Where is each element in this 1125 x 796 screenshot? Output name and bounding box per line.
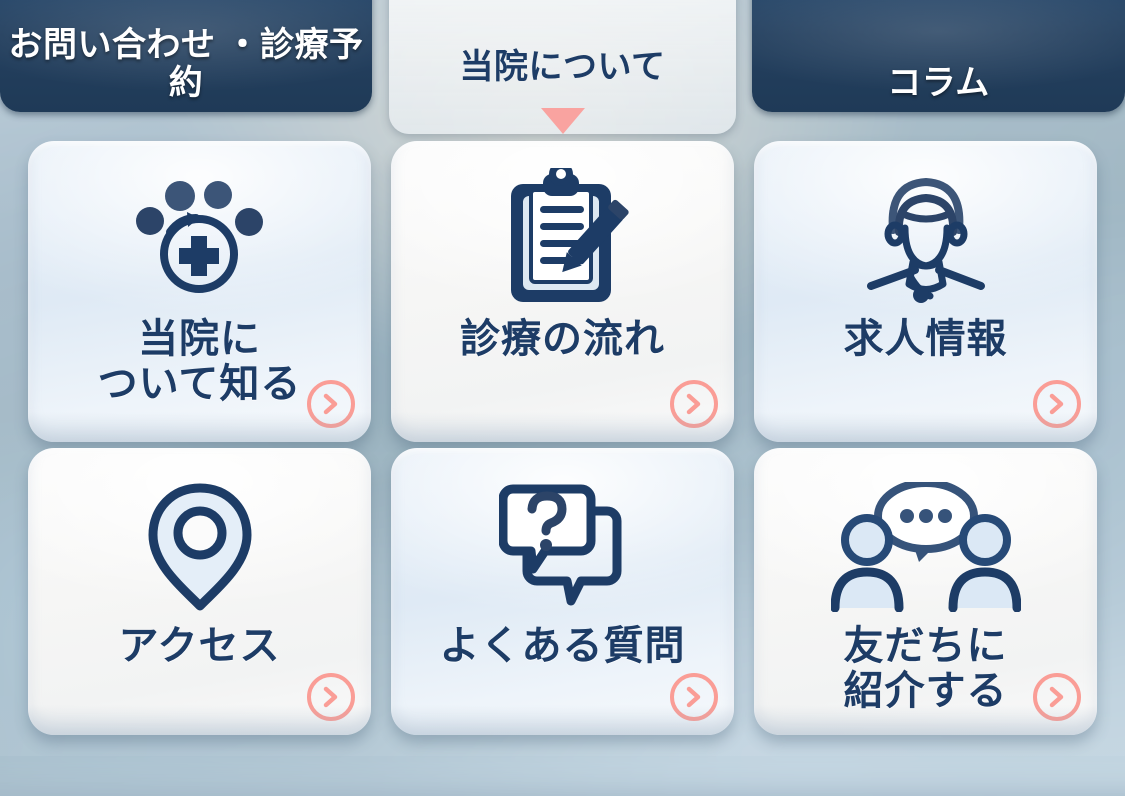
chevron-right-icon [684, 686, 704, 708]
chevron-right-icon [1047, 686, 1067, 708]
card-about-clinic[interactable]: 当院に ついて知る [28, 141, 371, 442]
tab-about-label: 当院について [460, 48, 666, 86]
card-about-clinic-label: 当院に ついて知る [98, 317, 302, 407]
card-care-flow-label: 診療の流れ [460, 317, 665, 362]
tab-contact-label: お問い合わせ ・診療予約 [0, 26, 372, 102]
card-refer-friend[interactable]: 友だちに 紹介する [754, 448, 1097, 735]
card-recruit-arrow-button[interactable] [1033, 380, 1081, 428]
menu-card-grid: 当院に ついて知る [0, 141, 1125, 741]
card-care-flow[interactable]: 診療の流れ [391, 141, 734, 442]
paw-medical-cross-icon [125, 163, 275, 313]
card-access-arrow-button[interactable] [307, 673, 355, 721]
tab-column[interactable]: コラム [752, 0, 1125, 112]
tab-contact[interactable]: お問い合わせ ・診療予約 [0, 0, 372, 112]
card-access[interactable]: アクセス [28, 448, 371, 735]
chevron-right-icon [684, 393, 704, 415]
card-care-flow-arrow-button[interactable] [670, 380, 718, 428]
active-tab-triangle-icon [541, 108, 585, 134]
chevron-right-icon [321, 393, 341, 415]
card-faq-label: よくある質問 [440, 624, 686, 669]
card-about-clinic-arrow-button[interactable] [307, 380, 355, 428]
card-access-label: アクセス [119, 624, 281, 669]
card-faq-arrow-button[interactable] [670, 673, 718, 721]
question-chat-icon [499, 472, 627, 622]
two-people-chat-icon [831, 472, 1021, 622]
card-faq[interactable]: よくある質問 [391, 448, 734, 735]
card-refer-friend-arrow-button[interactable] [1033, 673, 1081, 721]
tab-bar: お問い合わせ ・診療予約 当院について コラム [0, 0, 1125, 140]
chevron-right-icon [321, 686, 341, 708]
card-recruit[interactable]: 求人情報 [754, 141, 1097, 442]
vet-staff-icon [853, 163, 999, 313]
tab-column-label: コラム [887, 64, 989, 102]
card-refer-friend-label: 友だちに 紹介する [844, 624, 1008, 714]
clipboard-pencil-icon [497, 163, 629, 313]
card-recruit-label: 求人情報 [844, 317, 1008, 362]
chevron-right-icon [1047, 393, 1067, 415]
map-pin-icon [145, 472, 255, 622]
